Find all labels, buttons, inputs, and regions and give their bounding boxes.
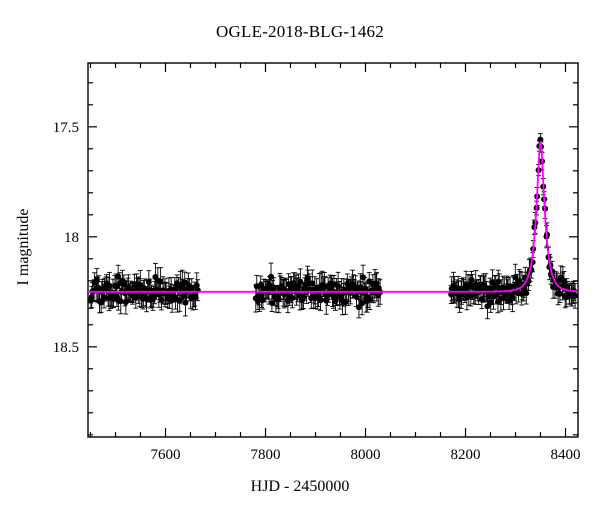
axes-frame (88, 63, 578, 437)
svg-text:8400: 8400 (551, 447, 581, 463)
light-curve-figure: OGLE-2018-BLG-1462 I magnitude HJD - 245… (0, 0, 600, 512)
y-axis-ticks (88, 83, 578, 435)
svg-text:7600: 7600 (151, 447, 181, 463)
svg-text:18.5: 18.5 (53, 340, 79, 356)
svg-text:18: 18 (64, 230, 79, 246)
plot-canvas: 76007800800082008400 17.51818.5 (0, 0, 600, 512)
y-tick-labels: 17.51818.5 (53, 120, 79, 356)
svg-text:7800: 7800 (251, 447, 281, 463)
x-tick-labels: 76007800800082008400 (151, 447, 581, 463)
x-axis-ticks (91, 63, 566, 437)
chart-svg: 76007800800082008400 17.51818.5 (0, 0, 600, 512)
svg-text:17.5: 17.5 (53, 120, 79, 136)
model-curve (88, 142, 578, 291)
svg-text:8200: 8200 (451, 447, 481, 463)
svg-text:8000: 8000 (351, 447, 381, 463)
